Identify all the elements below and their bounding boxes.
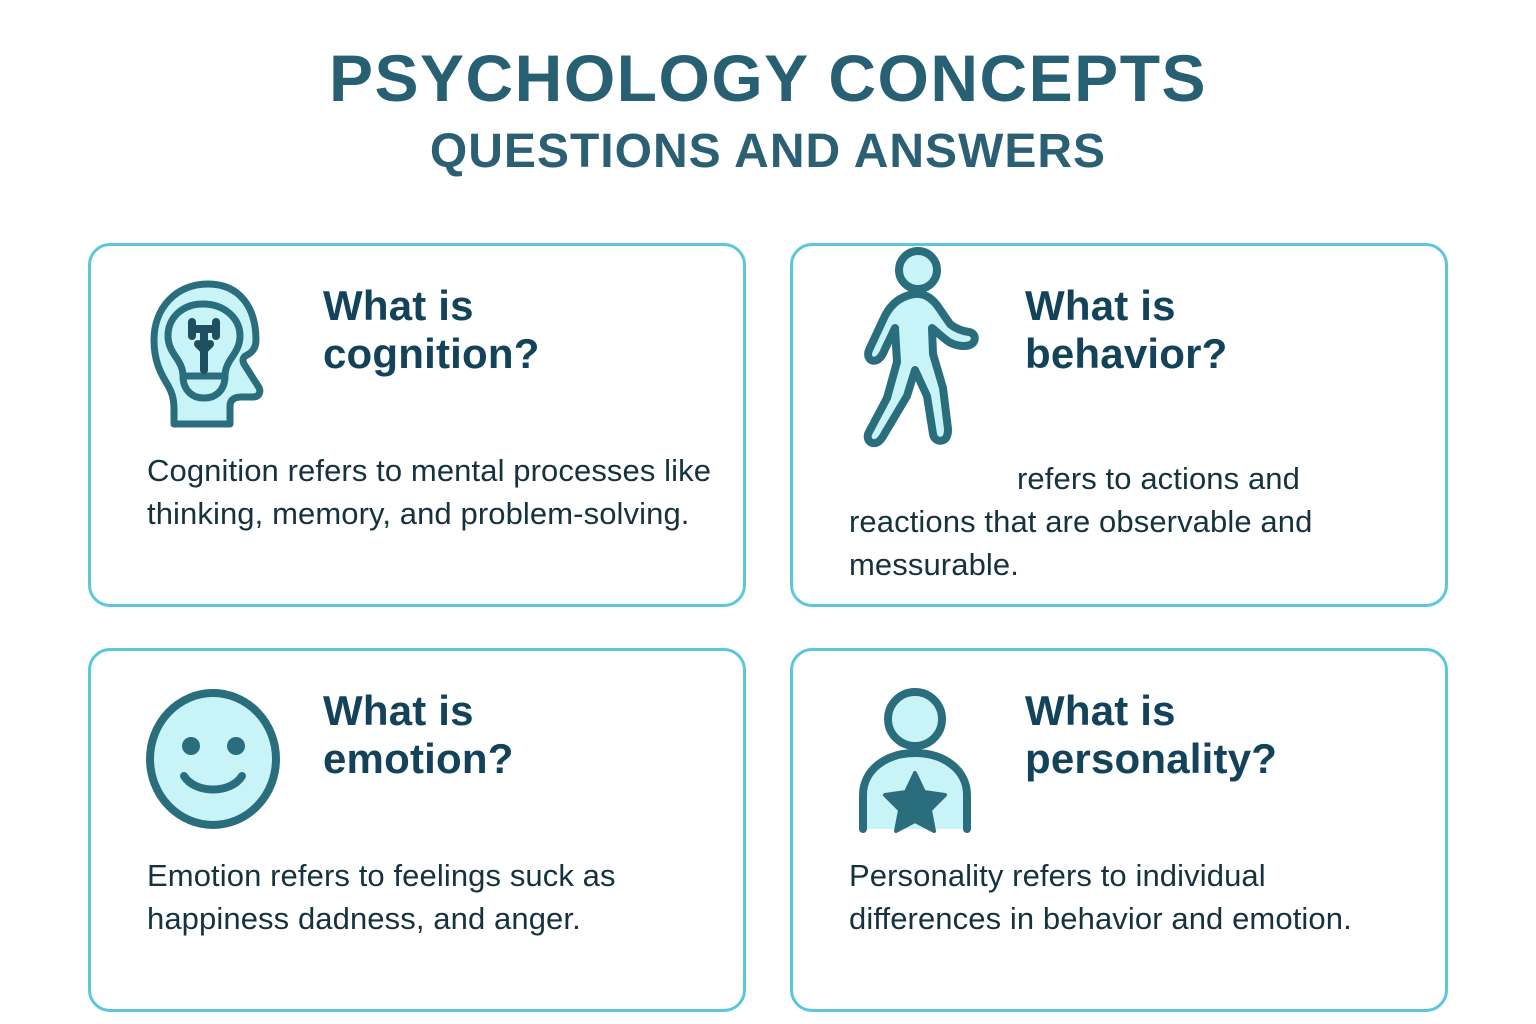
card-emotion-top: What is emotion?: [91, 651, 743, 851]
card-cognition-question: What is cognition?: [323, 282, 723, 378]
card-cognition[interactable]: What is cognition? Cognition refers to m…: [88, 243, 746, 607]
card-behavior-question: What is behavior?: [1025, 282, 1425, 378]
card-personality-answer: Personality refers to individual differe…: [849, 855, 1419, 941]
card-behavior-top: What is behavior?: [793, 246, 1445, 446]
card-behavior-answer: refers to actions and reactions that are…: [849, 458, 1419, 586]
walking-person-icon: [845, 274, 985, 434]
smiley-face-icon: [143, 679, 283, 839]
card-emotion-answer: Emotion refers to feelings suck as happi…: [147, 855, 717, 941]
card-behavior[interactable]: What is behavior? refers to actions and …: [790, 243, 1448, 607]
header: PSYCHOLOGY CONCEPTS QUESTIONS AND ANSWER…: [0, 0, 1536, 178]
card-personality[interactable]: What is personality? Personality refers …: [790, 648, 1448, 1012]
card-personality-top: What is personality?: [793, 651, 1445, 851]
card-cognition-answer: Cognition refers to mental processes lik…: [147, 450, 717, 536]
infographic-page: PSYCHOLOGY CONCEPTS QUESTIONS AND ANSWER…: [0, 0, 1536, 1024]
head-lightbulb-icon: [143, 274, 283, 434]
card-personality-question: What is personality?: [1025, 687, 1425, 783]
card-emotion[interactable]: What is emotion? Emotion refers to feeli…: [88, 648, 746, 1012]
page-subtitle: QUESTIONS AND ANSWERS: [0, 113, 1536, 177]
page-title: PSYCHOLOGY CONCEPTS: [0, 0, 1536, 113]
person-star-icon: [845, 679, 985, 839]
card-emotion-question: What is emotion?: [323, 687, 723, 783]
card-cognition-top: What is cognition?: [91, 246, 743, 446]
